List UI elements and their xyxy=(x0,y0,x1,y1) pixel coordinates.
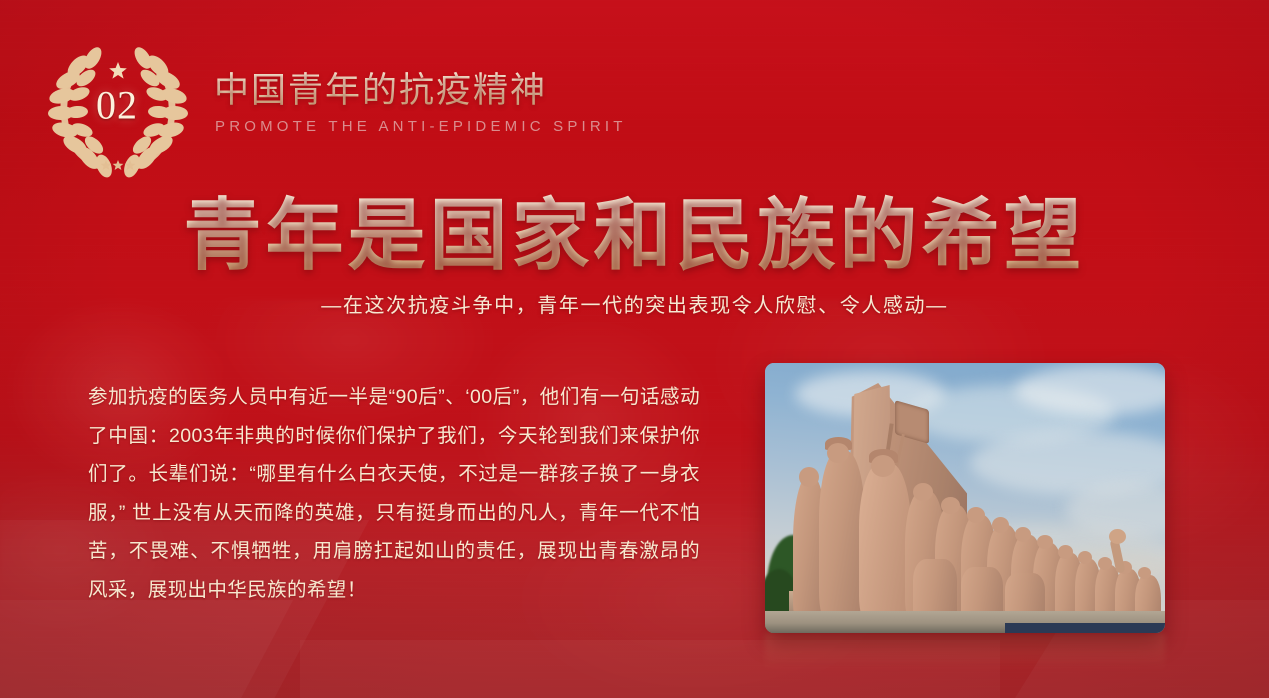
hero-subtitle: —在这次抗疫斗争中，青年一代的突出表现令人欣慰、令人感动— xyxy=(0,289,1269,318)
photo-reflection xyxy=(765,633,1165,677)
page-title: 青年是国家和民族的希望 xyxy=(0,192,1269,279)
section-header-text: 中国青年的抗疫精神 PROMOTE THE ANTI-EPIDEMIC SPIR… xyxy=(212,69,627,144)
ground-shadow xyxy=(1005,623,1165,633)
section-header: 02 中国青年的抗疫精神 PROMOTE THE ANTI-EPIDEMIC S… xyxy=(42,32,627,180)
star-icon xyxy=(109,62,127,79)
section-number-badge: 02 xyxy=(42,32,194,180)
hero-block: 青年是国家和民族的希望 —在这次抗疫斗争中，青年一代的突出表现令人欣慰、令人感动… xyxy=(0,192,1269,318)
torch-icon xyxy=(1109,529,1126,544)
section-subtitle: PROMOTE THE ANTI-EPIDEMIC SPIRIT xyxy=(215,118,627,135)
monument-photo[interactable] xyxy=(765,363,1165,633)
slide-root: 02 中国青年的抗疫精神 PROMOTE THE ANTI-EPIDEMIC S… xyxy=(0,0,1269,698)
content-area: 参加抗疫的医务人员中有近一半是“90后”、‘00后”，他们有一句话感动了中国：2… xyxy=(0,360,1269,698)
section-number: 02 xyxy=(42,82,192,129)
photo-container xyxy=(765,363,1165,633)
section-title: 中国青年的抗疫精神 xyxy=(214,69,627,113)
body-paragraph: 参加抗疫的医务人员中有近一半是“90后”、‘00后”，他们有一句话感动了中国：2… xyxy=(88,378,700,609)
